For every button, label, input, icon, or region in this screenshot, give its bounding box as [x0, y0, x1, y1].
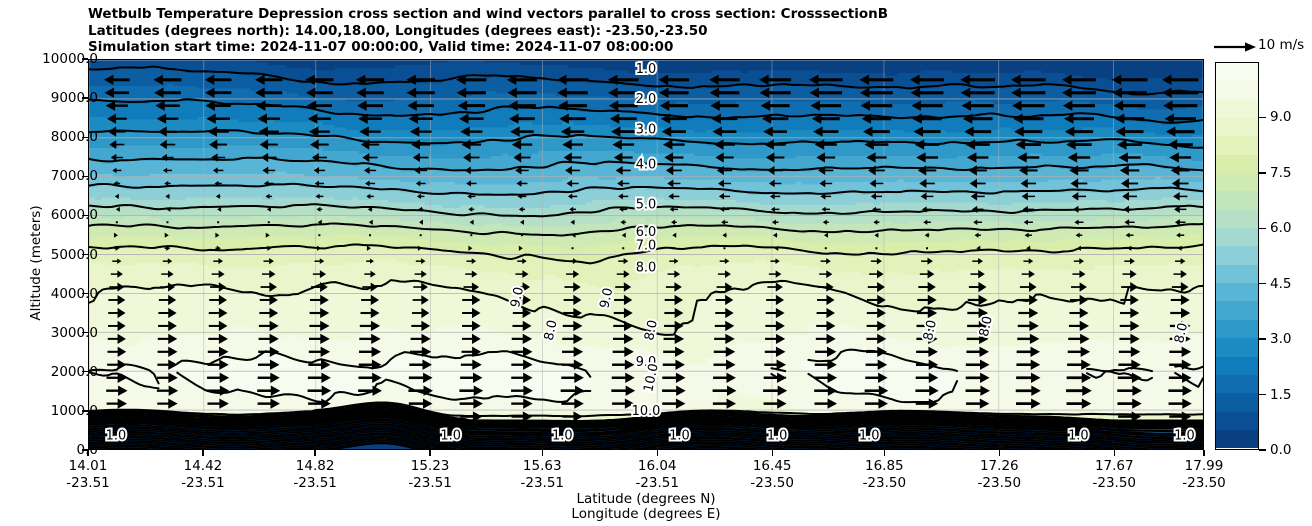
colorbar-tick-mark [1259, 338, 1266, 339]
contour-label: 1.0 [1174, 429, 1195, 444]
x-axis-tick-mark [429, 450, 430, 456]
contour-label: 2.0 [636, 92, 657, 107]
x-tick-longitude: -23.50 [1144, 475, 1264, 492]
colorbar-tick-label: 4.5 [1270, 276, 1291, 292]
x-axis-tick-label: 14.42-23.51 [143, 458, 263, 492]
contour-label: 8.0 [921, 319, 940, 342]
contour-label: 8.0 [542, 319, 561, 342]
x-tick-latitude: 16.45 [712, 458, 832, 475]
contour-label: 1.0 [669, 429, 690, 444]
colorbar-band [1216, 430, 1258, 448]
colorbar-band [1216, 320, 1258, 338]
colorbar-tick-label: 7.5 [1270, 165, 1291, 181]
colorbar-band [1216, 81, 1258, 99]
x-tick-latitude: 16.85 [824, 458, 944, 475]
x-axis-tick-label: 17.99-23.50 [1144, 458, 1264, 492]
y-axis-tick-mark [82, 97, 88, 98]
x-axis-tick-label: 15.23-23.51 [370, 458, 490, 492]
x-tick-latitude: 15.23 [370, 458, 490, 475]
x-axis-tick-mark [1203, 450, 1204, 456]
colorbar-band [1216, 118, 1258, 136]
x-tick-longitude: -23.51 [370, 475, 490, 492]
colorbar-tick-label: 0.0 [1270, 442, 1291, 458]
colorbar-band [1216, 301, 1258, 319]
y-axis-tick-mark [82, 215, 88, 216]
x-tick-latitude: 14.82 [255, 458, 375, 475]
colorbar-band [1216, 338, 1258, 356]
x-axis-tick-label: 17.26-23.50 [939, 458, 1059, 492]
colorbar-tick-label: 1.5 [1270, 387, 1291, 403]
x-tick-longitude: -23.50 [824, 475, 944, 492]
contour-label: 3.0 [636, 123, 657, 138]
x-axis-tick-mark [772, 450, 773, 456]
x-axis-tick-mark [202, 450, 203, 456]
x-tick-longitude: -23.51 [597, 475, 717, 492]
x-axis-tick-label: 16.04-23.51 [597, 458, 717, 492]
x-tick-latitude: 15.63 [482, 458, 602, 475]
x-tick-longitude: -23.51 [143, 475, 263, 492]
x-axis-tick-mark [542, 450, 543, 456]
y-axis-tick-mark [82, 137, 88, 138]
colorbar-tick-mark [1259, 228, 1266, 229]
colorbar-band [1216, 191, 1258, 209]
colorbar-band [1216, 63, 1258, 81]
x-tick-longitude: -23.50 [712, 475, 832, 492]
colorbar-band [1216, 393, 1258, 411]
contour-label: 9.0 [508, 286, 527, 309]
colorbar-band [1216, 155, 1258, 173]
x-axis-tick-label: 14.82-23.51 [255, 458, 375, 492]
wind-key-label: 10 m/s [1258, 37, 1304, 53]
x-tick-latitude: 17.99 [1144, 458, 1264, 475]
contour-label: 1.0 [1068, 429, 1089, 444]
colorbar-tick-label: 3.0 [1270, 331, 1291, 347]
contour-label: 1.0 [552, 429, 573, 444]
x-axis-tick-mark [87, 450, 88, 456]
x-axis-tick-label: 15.63-23.51 [482, 458, 602, 492]
colorbar-band [1216, 357, 1258, 375]
x-axis-tick-mark [1114, 450, 1115, 456]
x-axis-tick-mark [314, 450, 315, 456]
contour-label: 8.0 [1172, 321, 1191, 344]
x-tick-latitude: 16.04 [597, 458, 717, 475]
colorbar-band [1216, 246, 1258, 264]
x-tick-latitude: 14.42 [143, 458, 263, 475]
x-tick-latitude: 14.01 [28, 458, 148, 475]
colorbar-tick-mark [1259, 283, 1266, 284]
colorbar [1215, 62, 1259, 450]
y-axis-label: Altitude (meters) [28, 153, 44, 373]
colorbar-tick-mark [1259, 172, 1266, 173]
colorbar-tick-label: 6.0 [1270, 220, 1291, 236]
colorbar-band [1216, 265, 1258, 283]
contour-label: 4.0 [636, 158, 657, 173]
contour-label: 5.0 [636, 198, 657, 213]
x-axis-label-latitude: Latitude (degrees N) [0, 491, 1292, 507]
y-axis-tick-mark [82, 176, 88, 177]
x-axis-tick-label: 16.45-23.50 [712, 458, 832, 492]
x-tick-longitude: -23.51 [255, 475, 375, 492]
colorbar-tick-mark [1259, 394, 1266, 395]
x-tick-longitude: -23.51 [482, 475, 602, 492]
colorbar-band [1216, 173, 1258, 191]
colorbar-tick-label: 9.0 [1270, 109, 1291, 125]
colorbar-band [1216, 210, 1258, 228]
colorbar-band [1216, 375, 1258, 393]
x-tick-latitude: 17.26 [939, 458, 1059, 475]
colorbar-band [1216, 228, 1258, 246]
x-axis-tick-mark [999, 450, 1000, 456]
colorbar-band [1216, 412, 1258, 430]
x-axis-label-longitude: Longitude (degrees E) [0, 506, 1292, 522]
title-line-1: Wetbulb Temperature Depression cross sec… [88, 6, 1198, 23]
y-axis-tick-mark [82, 410, 88, 411]
x-tick-longitude: -23.50 [939, 475, 1059, 492]
contour-label: 8.0 [977, 315, 996, 338]
contour-label: 1.0 [859, 429, 880, 444]
x-axis-tick-label: 14.01-23.51 [28, 458, 148, 492]
title-line-3: Simulation start time: 2024-11-07 00:00:… [88, 39, 1198, 56]
colorbar-band [1216, 100, 1258, 118]
colorbar-tick-mark [1259, 449, 1266, 450]
x-axis-tick-mark [657, 450, 658, 456]
contour-label: 1.0 [636, 62, 657, 77]
contour-labels: 1.02.03.04.05.06.07.08.09.010.09.09.08.0… [89, 60, 1203, 449]
colorbar-tick-mark [1259, 117, 1266, 118]
y-axis-tick-mark [82, 293, 88, 294]
x-axis-tick-mark [884, 450, 885, 456]
contour-label: 1.0 [767, 429, 788, 444]
contour-label: 8.0 [636, 261, 657, 276]
y-axis-tick-mark [82, 332, 88, 333]
contour-label: 8.0 [642, 319, 661, 342]
cross-section-plot: 1.02.03.04.05.06.07.08.09.010.09.09.08.0… [88, 59, 1204, 450]
figure: Wetbulb Temperature Depression cross sec… [0, 0, 1312, 526]
y-axis-tick-mark [82, 371, 88, 372]
title-line-2: Latitudes (degrees north): 14.00,18.00, … [88, 23, 1198, 40]
colorbar-band [1216, 136, 1258, 154]
contour-label: 7.0 [636, 238, 657, 253]
contour-label: 10.0 [632, 404, 661, 419]
y-axis-tick-mark [82, 58, 88, 59]
y-axis-tick-mark [82, 254, 88, 255]
colorbar-band [1216, 283, 1258, 301]
contour-label: 9.0 [597, 286, 616, 309]
x-tick-longitude: -23.51 [28, 475, 148, 492]
x-axis-tick-label: 16.85-23.50 [824, 458, 944, 492]
contour-label: 1.0 [106, 428, 127, 443]
figure-title: Wetbulb Temperature Depression cross sec… [88, 6, 1198, 56]
contour-label: 1.0 [440, 429, 461, 444]
